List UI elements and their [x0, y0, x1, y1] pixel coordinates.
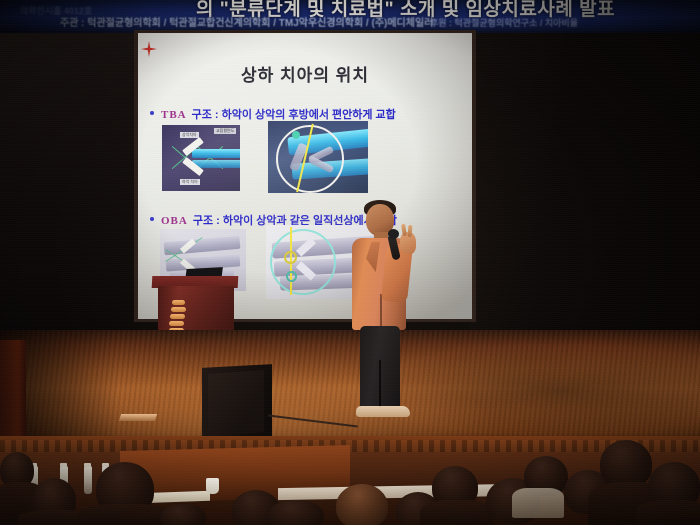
figure-tba-right	[268, 121, 368, 193]
bottle-cap	[84, 463, 91, 467]
figure-corner-label: 교합평면도	[214, 128, 236, 134]
paper-cup	[206, 478, 219, 494]
bullet-1-text: 구조 : 하악이 상악의 후방에서 편안하게 교합	[192, 109, 396, 121]
bullet-1-code: TBA	[161, 109, 187, 121]
figure-tba-left: 상악치아 하악 치아 교합평면도	[162, 125, 240, 191]
microphone-head-icon	[388, 229, 399, 239]
figure-caption-lower: 하악 치아	[180, 179, 200, 185]
banner-sponsor-text: 후원 : 턱관절균형의학연구소 / 치아비율	[430, 16, 578, 29]
slide-title: 상하 치아의 위치	[138, 61, 472, 86]
presenter-jacket-vent	[380, 294, 382, 330]
stage-monitor-face	[208, 370, 264, 436]
back-wall-right-panel	[470, 0, 700, 345]
bottle-cap	[60, 463, 67, 467]
audience-body	[420, 500, 494, 525]
presenter-shoe-right	[376, 406, 410, 417]
presentation-photo-scene: 의학전시홀 4012호 의 "분류단계 및 치료법" 소개 및 임상치료사례 발…	[0, 0, 700, 525]
audience-head	[600, 440, 652, 488]
audience-head	[160, 504, 206, 525]
audience-head	[336, 484, 388, 525]
audience-shirt	[512, 488, 564, 518]
red-star-logo-icon	[141, 41, 157, 57]
bullet-marker-icon	[150, 111, 154, 115]
stage-left-wing	[0, 340, 26, 444]
floor-power-strip	[119, 414, 157, 421]
presenter-trouser-seam	[379, 360, 381, 410]
audience-body	[636, 500, 700, 525]
figure-caption-upper: 상악치아	[180, 132, 199, 138]
banner-subtitle-text: 주관 : 턱관절균형의학회 / 턱관절교합건신계의학회 / TMJ악우신경의학회…	[60, 14, 700, 29]
presenter-figure	[336, 198, 422, 430]
audience-head	[268, 500, 324, 525]
bullet-marker-icon	[150, 217, 154, 221]
water-bottle	[84, 466, 92, 494]
back-wall-left-panel	[0, 20, 140, 345]
event-banner: 의학전시홀 4012호 의 "분류단계 및 치료법" 소개 및 임상치료사례 발…	[0, 0, 700, 33]
bullet-2-code: OBA	[161, 215, 188, 227]
